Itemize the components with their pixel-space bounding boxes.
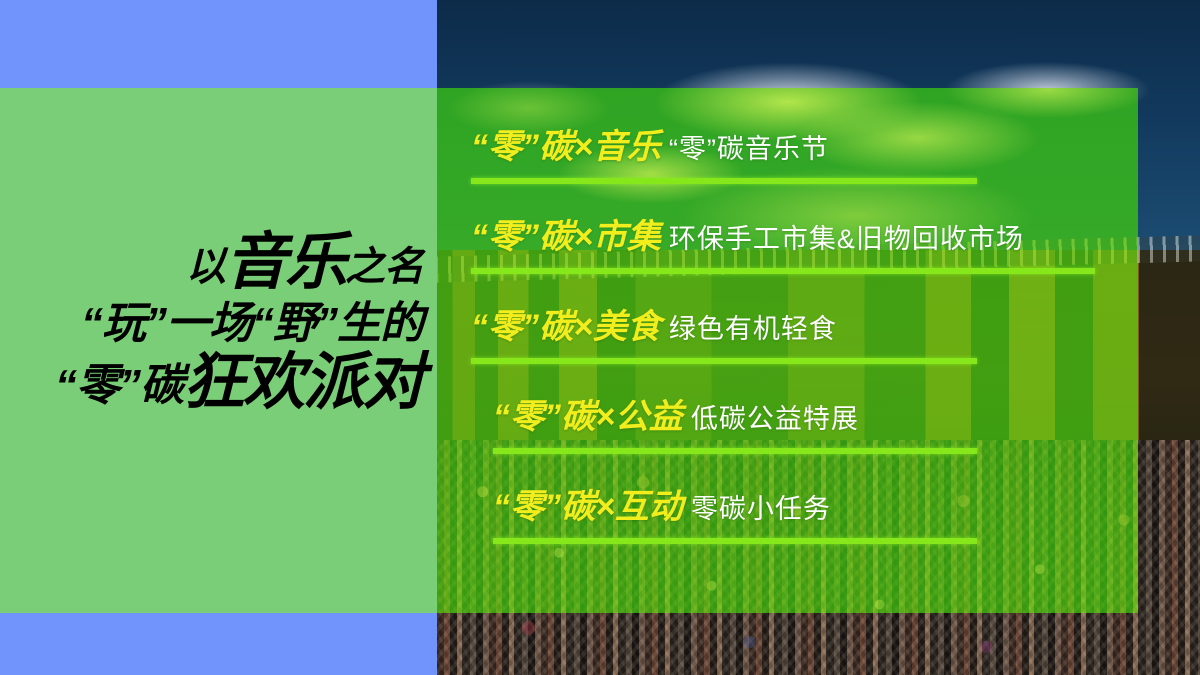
list-item-headline: “零”碳×公益 bbox=[493, 398, 683, 436]
title-line-2: “玩”一场“野”生的 bbox=[0, 302, 423, 346]
list-item-headline: “零”碳×互动 bbox=[493, 488, 683, 526]
list-item-subtitle: 零碳小任务 bbox=[691, 494, 831, 524]
list-item-subtitle: 绿色有机轻食 bbox=[669, 314, 837, 344]
list-item-text: “零”碳×市集环保手工市集&旧物回收市场 bbox=[471, 220, 1138, 254]
list-item-underline bbox=[471, 358, 977, 364]
list-item[interactable]: “零”碳×市集环保手工市集&旧物回收市场 bbox=[437, 220, 1138, 274]
blue-band-bottom bbox=[0, 613, 437, 675]
list-item[interactable]: “零”碳×音乐“零”碳音乐节 bbox=[437, 130, 1138, 184]
list-item[interactable]: “零”碳×美食绿色有机轻食 bbox=[437, 310, 1138, 364]
poster-canvas: 以音乐之名 “玩”一场“野”生的 “零”碳狂欢派对 “零”碳×音乐“零”碳音乐节… bbox=[0, 0, 1200, 675]
title-line-1: 以音乐之名 bbox=[0, 232, 423, 294]
list-item-text: “零”碳×音乐“零”碳音乐节 bbox=[471, 130, 1138, 164]
title-line-1-pre: 以 bbox=[186, 245, 225, 289]
list-item-subtitle: “零”碳音乐节 bbox=[669, 134, 829, 164]
list-item[interactable]: “零”碳×互动零碳小任务 bbox=[437, 490, 1138, 544]
list-item-text: “零”碳×公益低碳公益特展 bbox=[493, 400, 1138, 434]
list-item-underline bbox=[471, 268, 1095, 274]
list-item-subtitle: 环保手工市集&旧物回收市场 bbox=[669, 224, 1024, 254]
title-line-1-post: 之名 bbox=[345, 245, 423, 289]
title-line-3-emphasis: 狂欢派对 bbox=[183, 348, 423, 417]
list-item-underline bbox=[493, 448, 977, 454]
list-item-headline: “零”碳×市集 bbox=[471, 218, 661, 256]
list-item-subtitle: 低碳公益特展 bbox=[691, 404, 859, 434]
list-item[interactable]: “零”碳×公益低碳公益特展 bbox=[437, 400, 1138, 454]
list-item-headline: “零”碳×音乐 bbox=[471, 128, 661, 166]
list-item-text: “零”碳×互动零碳小任务 bbox=[493, 490, 1138, 524]
program-list: “零”碳×音乐“零”碳音乐节 “零”碳×市集环保手工市集&旧物回收市场 “零”碳… bbox=[437, 88, 1138, 613]
list-item-text: “零”碳×美食绿色有机轻食 bbox=[471, 310, 1138, 344]
list-item-underline bbox=[471, 178, 977, 184]
list-item-headline: “零”碳×美食 bbox=[471, 308, 661, 346]
title-line-1-emphasis: 音乐 bbox=[225, 228, 345, 297]
title-line-3-pre: “零”碳 bbox=[55, 361, 183, 410]
blue-band-top bbox=[0, 0, 437, 88]
list-item-underline bbox=[493, 538, 977, 544]
poster-title: 以音乐之名 “玩”一场“野”生的 “零”碳狂欢派对 bbox=[0, 232, 437, 414]
title-line-3: “零”碳狂欢派对 bbox=[0, 352, 423, 414]
